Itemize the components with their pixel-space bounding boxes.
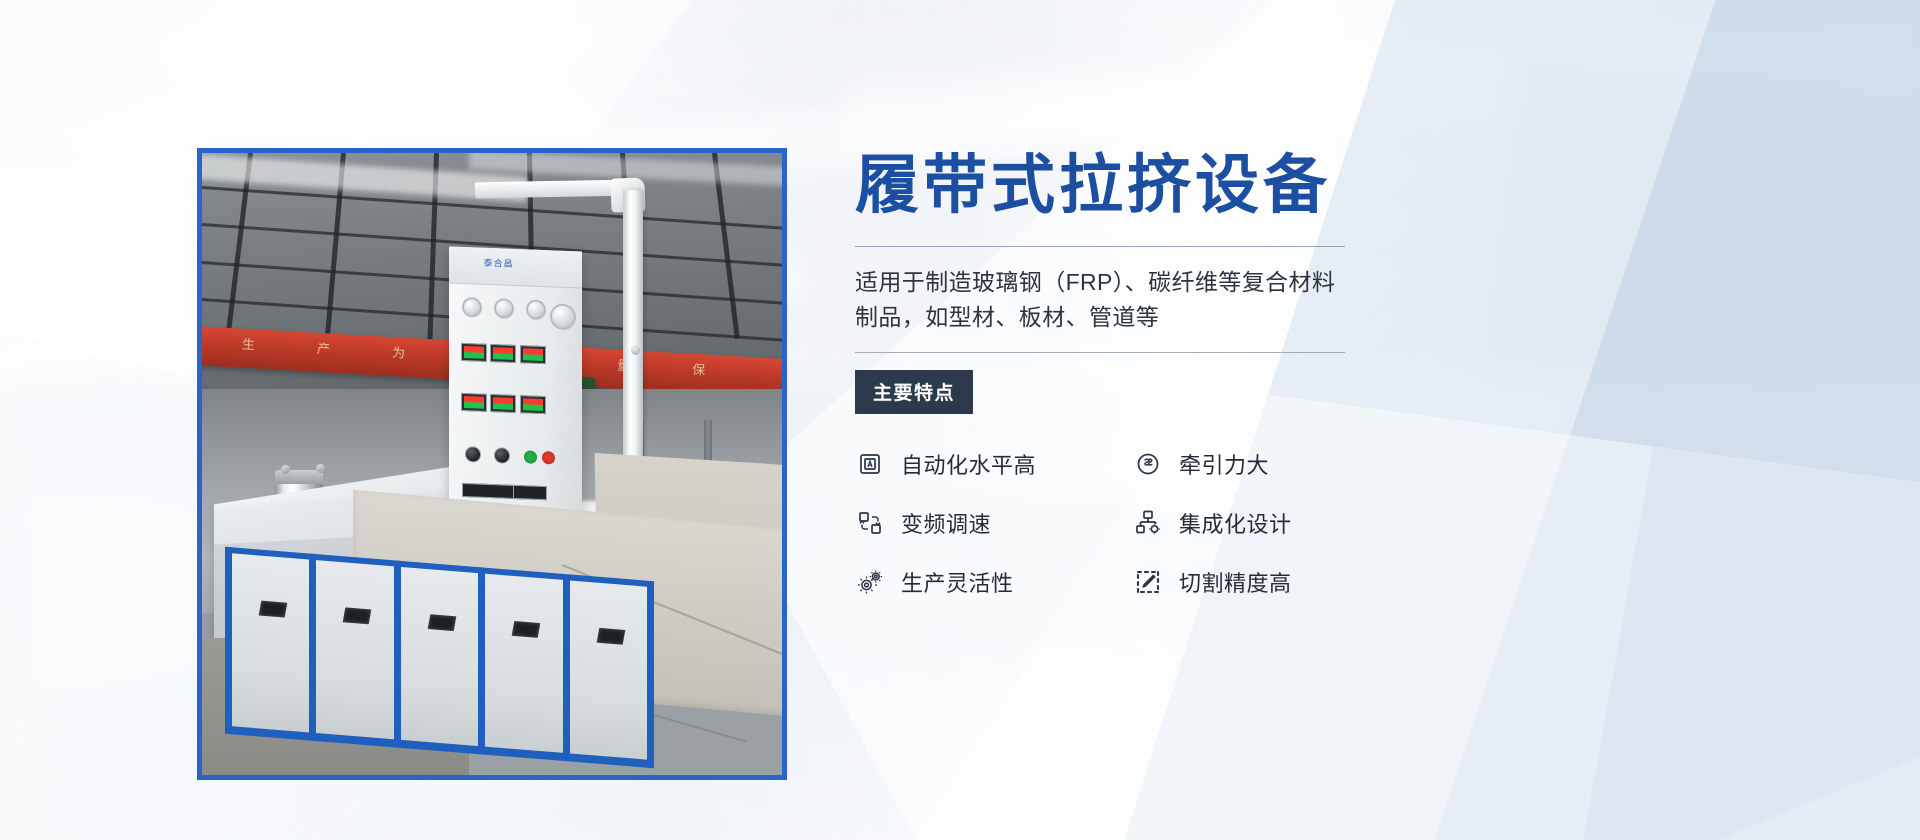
cabinet-panel — [310, 553, 394, 746]
feature-label: 牵引力大 — [1179, 448, 1269, 480]
cabinet-logo: 泰合昌 — [483, 256, 513, 270]
page-title: 履带式拉挤设备 — [855, 150, 1495, 222]
feature-label: 变频调速 — [901, 507, 991, 539]
product-photo: 生 产 为 产 质 量 保 — [202, 153, 782, 775]
feature-item-cut-precision[interactable]: 切割精度高 — [1133, 566, 1385, 598]
subtitle-text: 适用于制造玻璃钢（FRP）、碳纤维等复合材料制品，如型材、板材、管道等 — [855, 265, 1355, 336]
traction-force-icon — [1133, 449, 1163, 479]
background-light-band — [1479, 47, 1861, 406]
gears-icon — [855, 567, 885, 597]
cabinet-panel — [225, 546, 309, 739]
feature-item-frequency[interactable]: 变频调速 — [855, 507, 1133, 539]
feature-item-flexibility[interactable]: 生产灵活性 — [855, 566, 1133, 598]
product-photo-frame[interactable]: 生 产 为 产 质 量 保 — [197, 148, 787, 780]
cabinet-panel — [479, 567, 563, 760]
subtitle-divider — [855, 352, 1345, 353]
feature-list: 自动化水平高 牵引力大 — [855, 448, 1385, 598]
banner-content: 履带式拉挤设备 适用于制造玻璃钢（FRP）、碳纤维等复合材料制品，如型材、板材、… — [855, 150, 1495, 598]
frequency-speed-icon — [855, 508, 885, 538]
feature-item-integrated[interactable]: 集成化设计 — [1133, 507, 1385, 539]
blue-cabinet-row — [225, 546, 654, 767]
cabinet-panel — [563, 573, 654, 767]
integrated-design-icon — [1133, 508, 1163, 538]
feature-label: 生产灵活性 — [901, 566, 1014, 598]
feature-label: 自动化水平高 — [901, 448, 1036, 480]
automation-icon — [855, 449, 885, 479]
status-badge: 主要特点 — [855, 370, 973, 414]
gantry-bolt — [631, 346, 640, 355]
feature-item-traction[interactable]: 牵引力大 — [1133, 448, 1385, 480]
cabinet-panel — [394, 560, 478, 753]
title-divider — [855, 246, 1345, 247]
cabinet-header — [449, 247, 582, 289]
feature-item-automation[interactable]: 自动化水平高 — [855, 448, 1133, 480]
cut-precision-icon — [1133, 567, 1163, 597]
feature-label: 切割精度高 — [1179, 566, 1292, 598]
product-banner: 生 产 为 产 质 量 保 — [0, 0, 1920, 840]
feature-label: 集成化设计 — [1179, 507, 1292, 539]
gantry-arm — [474, 180, 631, 199]
